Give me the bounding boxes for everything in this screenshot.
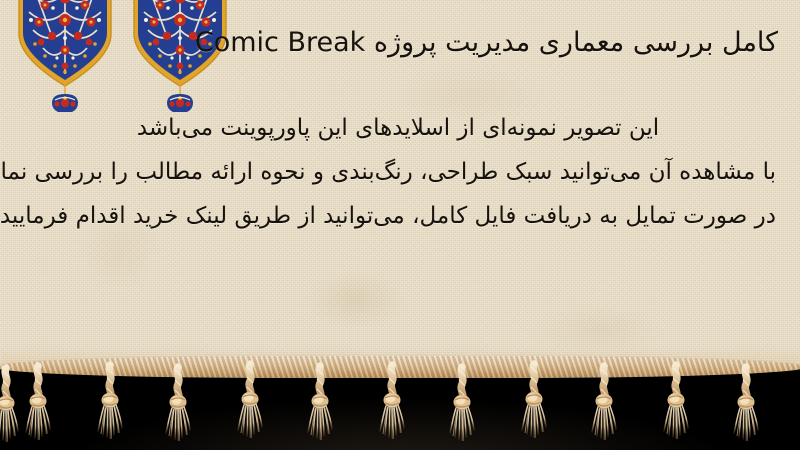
body-line-3: در صورت تمایل به دریافت فایل کامل، می‌تو…	[20, 194, 776, 238]
carpet-selvedge-cord	[0, 356, 800, 378]
slide-body: این تصویر نمونه‌ای از اسلایدهای این پاور…	[20, 106, 776, 238]
body-line-2: با مشاهده آن می‌توانید سبک طراحی، رنگ‌بن…	[20, 150, 776, 194]
band-sheen	[0, 368, 800, 450]
dark-bottom-band	[0, 368, 800, 450]
body-line-1: این تصویر نمونه‌ای از اسلایدهای این پاور…	[20, 106, 776, 150]
slide-title: کامل بررسی معماری مدیریت پروژه Comic Bre…	[18, 26, 778, 60]
slide-canvas: کامل بررسی معماری مدیریت پروژه Comic Bre…	[0, 0, 800, 450]
